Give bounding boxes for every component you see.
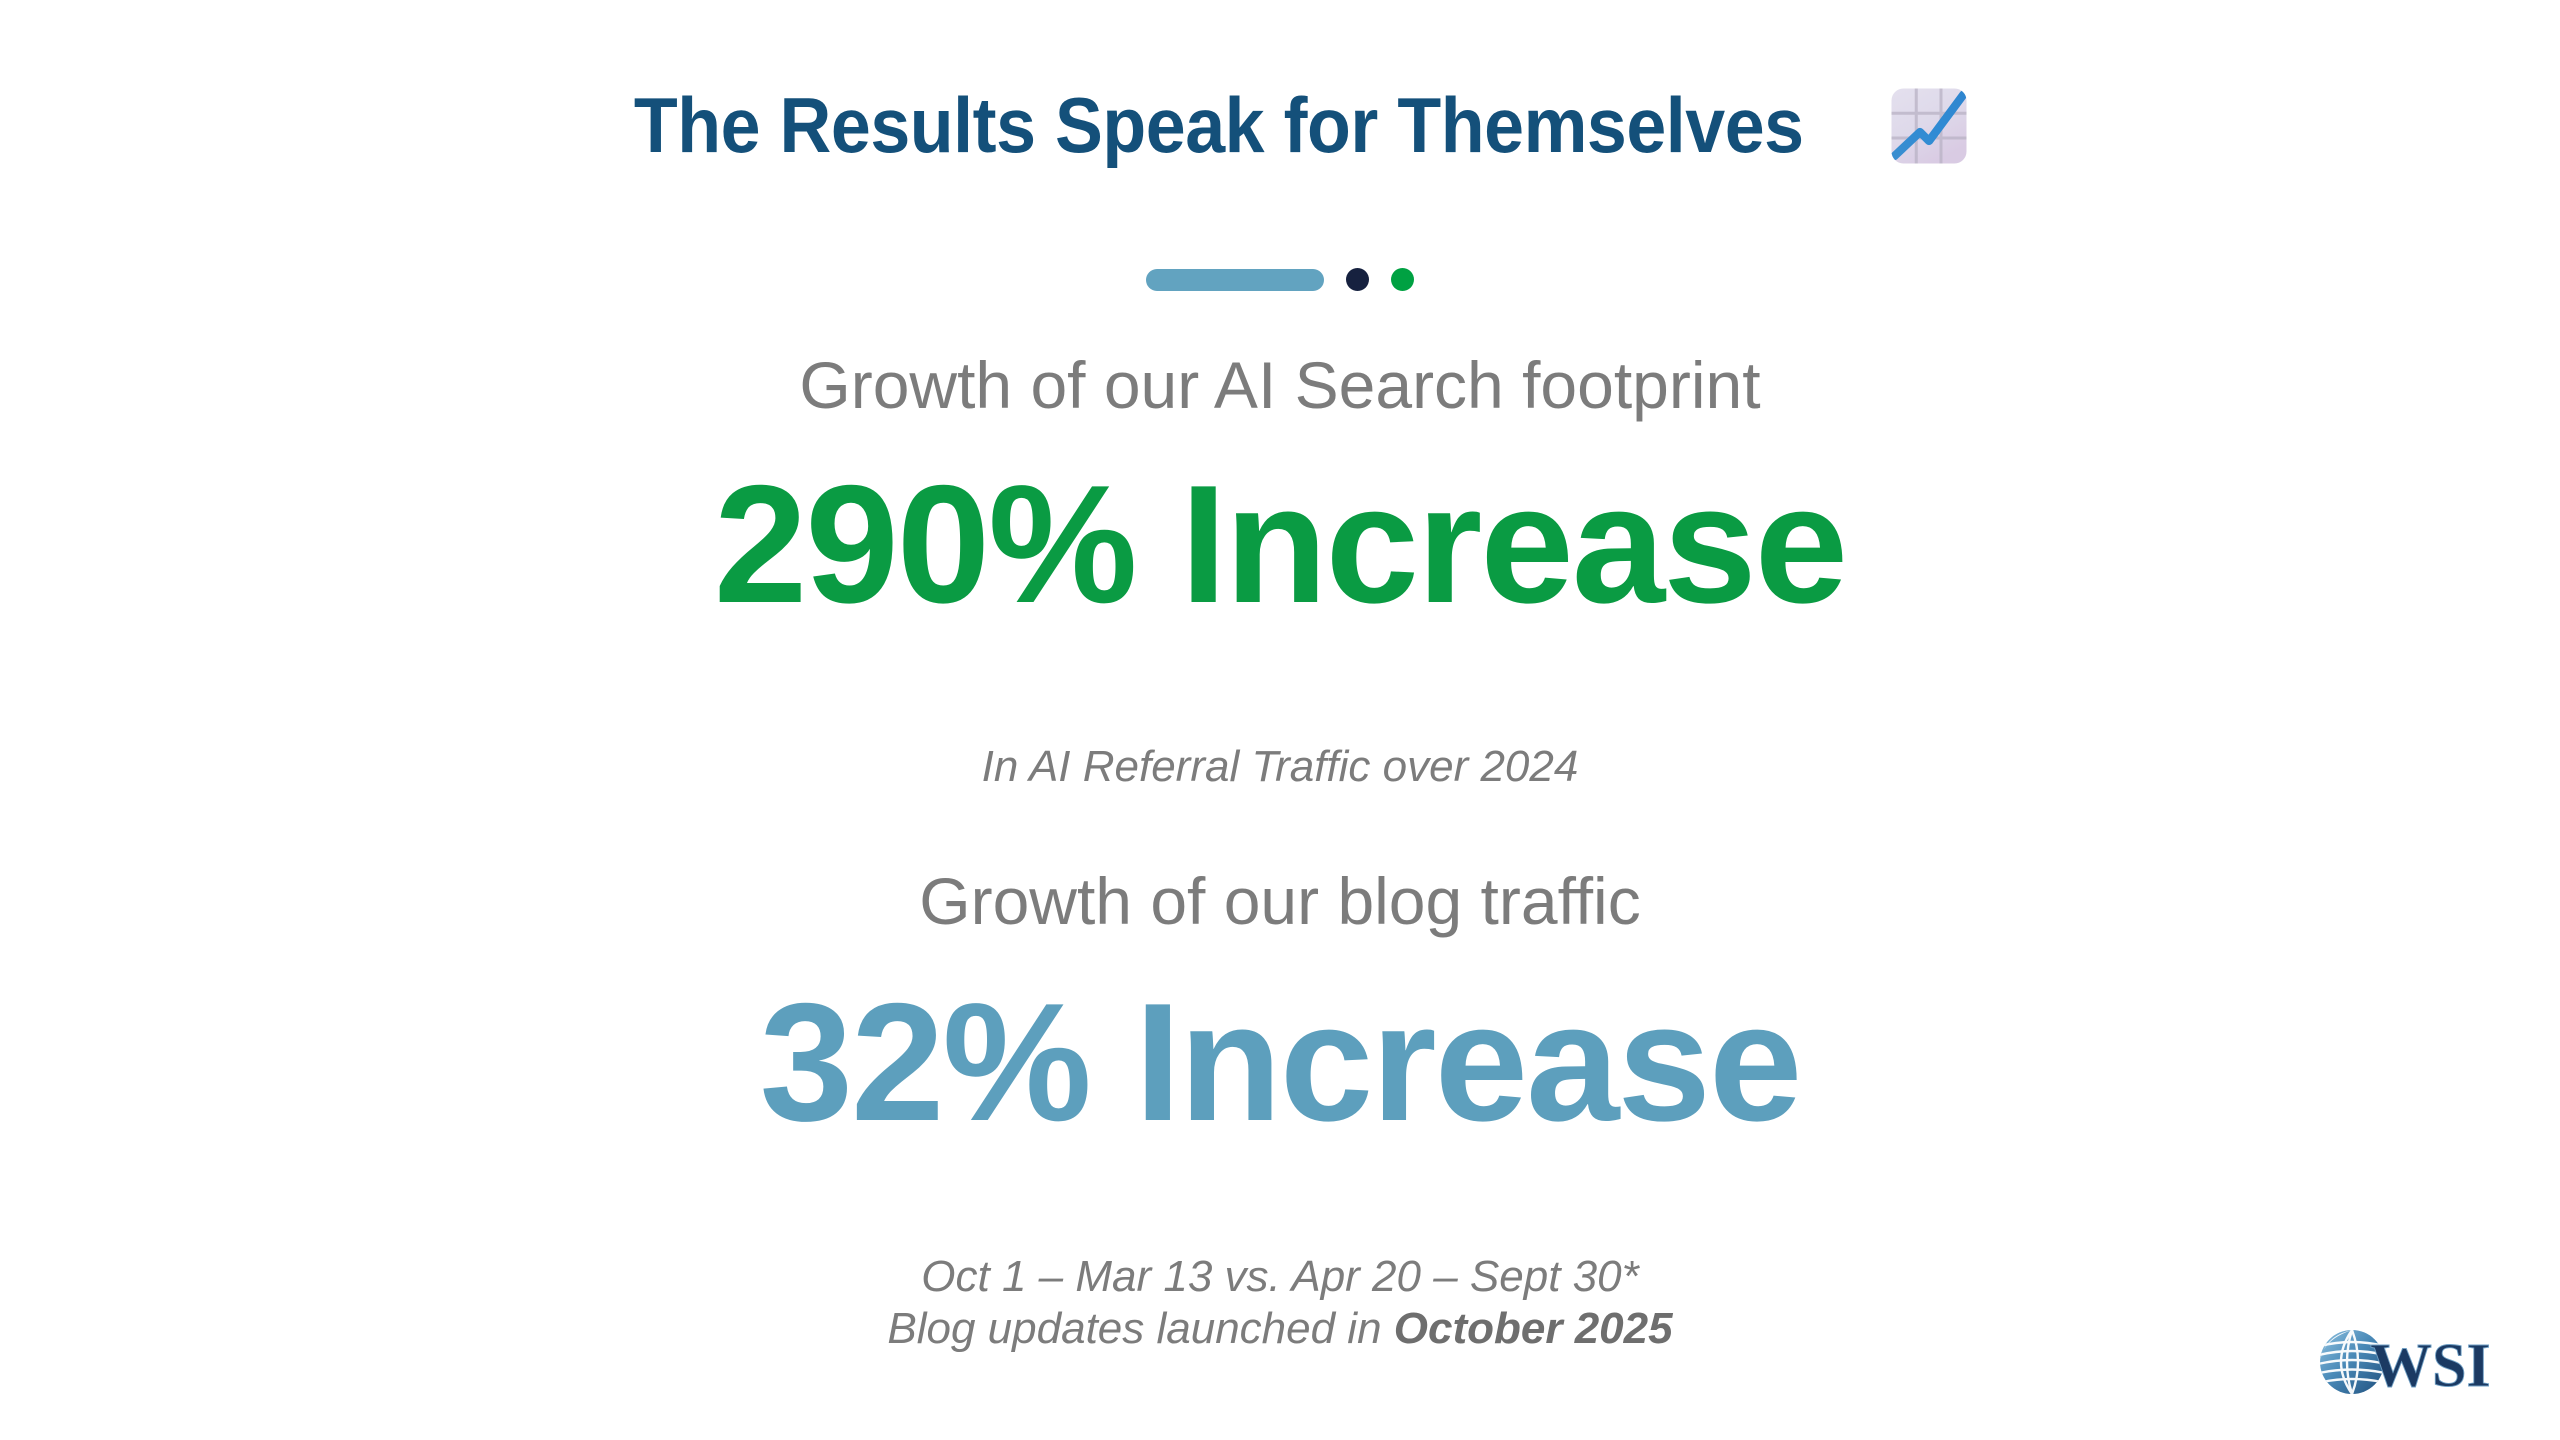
stat-ai-note-row: In AI Referral Traffic over 2024 (0, 738, 2560, 795)
slide-root: The Results Speak for Themselves (0, 0, 2560, 1440)
stat-blog-value-row: 32% Increase (0, 978, 2560, 1146)
stat-blog-note-row-1: Oct 1 – Mar 13 vs. Apr 20 – Sept 30* (0, 1248, 2560, 1305)
divider (0, 268, 2560, 291)
stat-blog-note-line-2: Blog updates launched in October 2025 (887, 1304, 1672, 1353)
stat-ai-label: Growth of our AI Search footprint (799, 348, 1760, 422)
stat-blog-note-line-2-prefix: Blog updates launched in (887, 1304, 1393, 1353)
chart-increasing-emoji (1881, 78, 1977, 174)
divider-dot-navy (1346, 268, 1369, 291)
stat-ai-value: 290% Increase (714, 450, 1846, 638)
wsi-wordmark: WSI (2370, 1332, 2491, 1400)
page-title: The Results Speak for Themselves (634, 86, 1804, 166)
divider-bar (1146, 269, 1324, 291)
stat-blog-note-line-1: Oct 1 – Mar 13 vs. Apr 20 – Sept 30* (921, 1252, 1638, 1301)
stat-blog-label: Growth of our blog traffic (919, 864, 1640, 938)
stat-blog-value: 32% Increase (760, 968, 1801, 1156)
wsi-logo: WSI (2310, 1320, 2522, 1404)
title-row: The Results Speak for Themselves (0, 78, 2560, 174)
stat-blog-label-row: Growth of our blog traffic (0, 868, 2560, 934)
stat-ai-value-row: 290% Increase (0, 460, 2560, 628)
stat-ai-note: In AI Referral Traffic over 2024 (982, 742, 1579, 791)
divider-dot-green (1391, 268, 1414, 291)
stat-ai-label-row: Growth of our AI Search footprint (0, 352, 2560, 418)
stat-blog-note-line-2-emphasis: October 2025 (1394, 1304, 1673, 1353)
stat-blog-note-row-2: Blog updates launched in October 2025 (0, 1300, 2560, 1357)
